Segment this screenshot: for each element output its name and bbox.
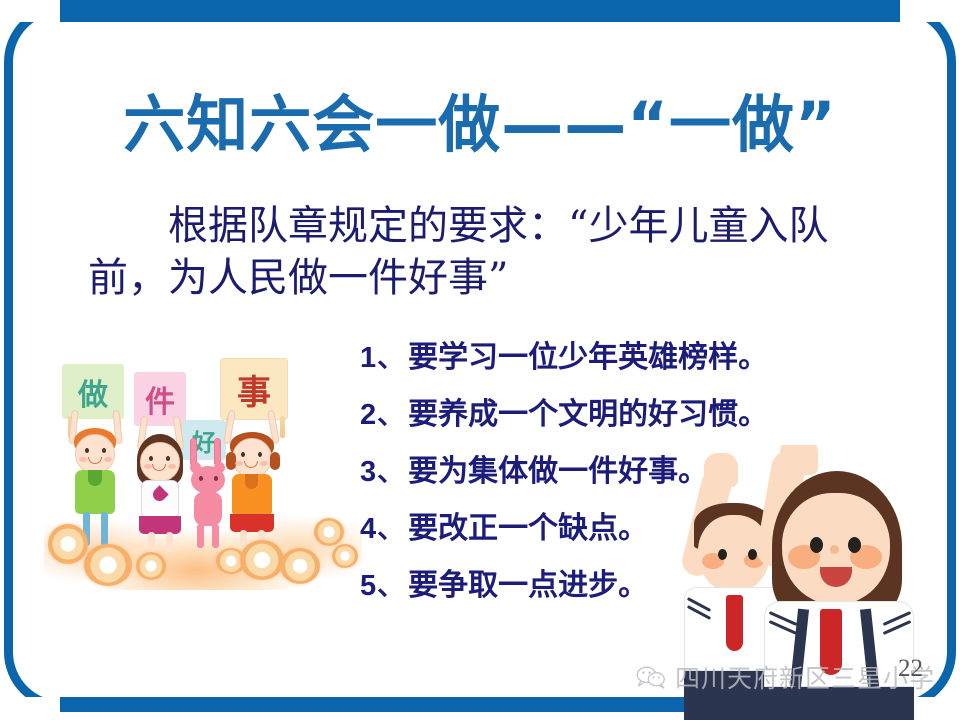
flower [240,540,284,580]
frame-mask-top-left [0,0,60,22]
kid-collar [245,474,258,489]
sign-character: 件 [145,377,175,421]
list-item-separator: 、 [377,564,404,603]
sign-character: 做 [78,370,108,414]
sign-character: 事 [237,365,271,414]
bear-leg [212,524,219,548]
student-eye [810,537,823,553]
kid-cheek [260,461,268,466]
frame-mask-bottom-left [0,697,60,720]
list-item-label: 要争取一点进步。 [408,560,648,604]
list-item-separator: 、 [377,336,404,375]
kid-head [75,434,115,474]
kid-leg [166,532,173,552]
list-item-label: 要学习一位少年英雄榜样。 [408,332,768,376]
bear-body [194,492,222,526]
slide-title: 六知六会一做——“一做” [0,74,960,164]
kid-eye [258,452,262,457]
list-item-label: 要养成一个文明的好习惯。 [408,389,768,433]
kid-eye [85,448,89,453]
list-item-label: 要改正一个缺点。 [408,503,648,547]
list-item-number: 1 [360,342,376,375]
flower [314,518,344,546]
kid-head [232,438,272,478]
bear-leg [197,524,204,548]
list-item-separator: 、 [377,393,404,432]
flower [136,552,166,580]
list-item-separator: 、 [377,450,404,489]
frame-mask-top-right [900,0,960,22]
list-item: 1 、 要学习一位少年英雄榜样。 [360,332,830,389]
list-item: 2 、 要养成一个文明的好习惯。 [360,389,830,446]
list-item-number: 4 [360,513,376,546]
bear-eye [214,476,218,481]
kid-cheek [79,457,87,462]
kid-cheek [144,464,152,469]
kid-eye [102,448,106,453]
bear-head [191,466,225,494]
sign-stick-4b [280,416,285,438]
kid-pigtail [270,452,280,470]
kid-eye [166,456,170,461]
list-item-number: 5 [360,570,376,603]
list-item-label: 要为集体做一件好事。 [408,446,708,490]
kid-cheek [235,461,243,466]
kid-skirt [230,514,274,532]
student-nose [830,545,839,554]
flower [48,524,88,564]
list-item-number: 3 [360,456,376,489]
student-eye [848,537,861,553]
student-hand [780,445,818,475]
flower [332,544,358,568]
list-item-separator: 、 [377,507,404,546]
flower [280,548,320,584]
bear-eye [199,476,203,481]
list-item-number: 2 [360,399,376,432]
kid-collar [88,470,102,486]
kid-pigtail [226,452,236,470]
kids-holding-signs-illustration: 做 件 好 事 [44,358,362,590]
watermark-text: 四川天府新区三星小学 [675,659,935,695]
kid-cheek [168,464,176,469]
kid-leg [101,512,108,546]
kid-eye [149,456,153,461]
page-number: 22 [898,655,923,683]
kid-head [140,442,180,482]
wechat-icon [636,664,666,690]
kid-skirt [139,516,181,534]
student-necktie [726,595,743,651]
student-hand [704,453,738,487]
kid-eye [241,452,245,457]
kid-cheek [104,457,112,462]
top-accent-bar [0,0,960,22]
flower [84,544,132,586]
kid-leg [148,532,155,552]
slide-subtitle: 根据队章规定的要求：“少年儿童入队前，为人民做一件好事” [88,200,908,304]
slide-canvas: 六知六会一做——“一做” 根据队章规定的要求：“少年儿童入队前，为人民做一件好事… [0,0,960,720]
wechat-watermark: 四川天府新区三星小学 [636,659,935,695]
student-eye [718,549,727,560]
